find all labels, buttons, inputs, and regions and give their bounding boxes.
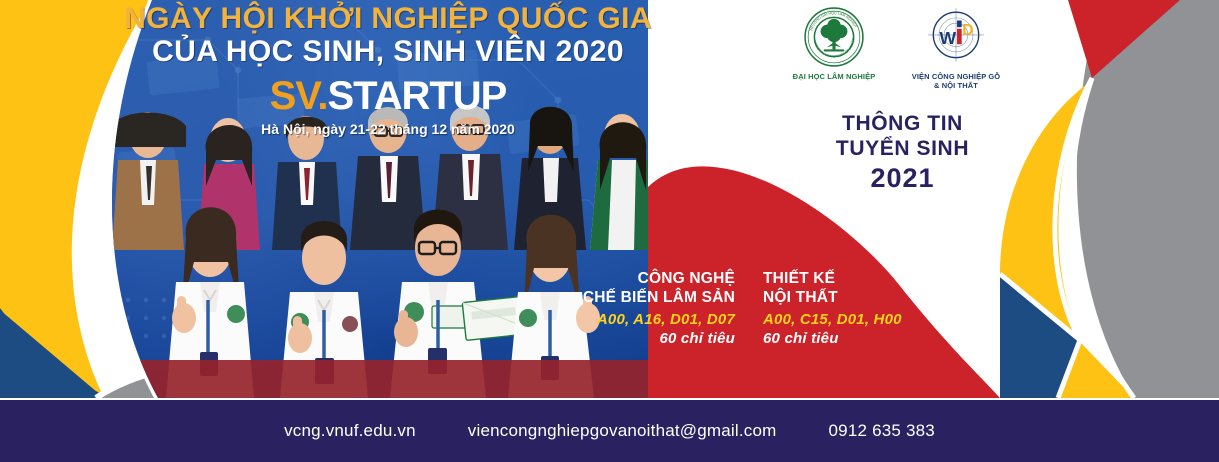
contact-email[interactable]: viencongnghiepgovanoithat@gmail.com — [468, 421, 777, 441]
major-name-line1: CÔNG NGHỆ — [560, 270, 735, 289]
major-name-line1: THIẾT KẾ — [763, 270, 943, 289]
info-title-line1: THÔNG TIN — [795, 112, 1010, 137]
major-name: THIẾT KẾ NỘI THẤT — [763, 270, 943, 308]
major-name: CÔNG NGHỆ CHẾ BIẾN LÂM SẢN — [560, 270, 735, 308]
info-title-line2: TUYỂN SINH — [795, 137, 1010, 162]
institution-logos: TRƯỜNG ĐẠI HỌC LÂM NGHIỆP NATIONAL UNIVE… — [780, 6, 1010, 91]
logo-wid-caption-line1: VIỆN CÔNG NGHIỆP GỖ — [912, 72, 1000, 81]
major-quota: 60 chỉ tiêu — [763, 330, 943, 347]
logo-vnuf: TRƯỜNG ĐẠI HỌC LÂM NGHIỆP NATIONAL UNIVE… — [782, 6, 886, 81]
major-name-line2: CHẾ BIẾN LÂM SẢN — [560, 289, 735, 308]
contact-phone[interactable]: 0912 635 383 — [829, 421, 935, 441]
major-quota: 60 chỉ tiêu — [560, 330, 735, 347]
svg-text:W: W — [939, 28, 956, 48]
major-subject-codes: A00, A16, D01, D07 — [560, 311, 735, 328]
info-title-year: 2021 — [795, 163, 1010, 195]
tree-seal-icon: TRƯỜNG ĐẠI HỌC LÂM NGHIỆP NATIONAL UNIVE… — [803, 6, 865, 68]
major-item: CÔNG NGHỆ CHẾ BIẾN LÂM SẢN A00, A16, D01… — [560, 270, 735, 347]
major-subject-codes: A00, C15, D01, H00 — [763, 311, 943, 328]
logo-wid-caption: VIỆN CÔNG NGHIỆP GỖ & NỘI THẤT — [912, 72, 1000, 91]
wid-target-icon: W D — [924, 6, 988, 68]
major-item: THIẾT KẾ NỘI THẤT A00, C15, D01, H00 60 … — [763, 270, 943, 347]
logo-vnuf-caption: ĐẠI HỌC LÂM NGHIỆP — [793, 72, 876, 81]
logo-wid-caption-line2: & NỘI THẤT — [912, 81, 1000, 90]
admissions-info-title: THÔNG TIN TUYỂN SINH 2021 — [795, 112, 1010, 194]
contact-footer: vcng.vnuf.edu.vn viencongnghiepgovanoith… — [0, 400, 1219, 462]
admissions-banner: NGÀY HỘI KHỞI NGHIỆP QUỐC GIA CỦA HỌC SI… — [0, 0, 1219, 462]
svg-text:D: D — [962, 22, 973, 39]
contact-website[interactable]: vcng.vnuf.edu.vn — [284, 421, 416, 441]
major-name-line2: NỘI THẤT — [763, 289, 943, 308]
logo-wid: W D VIỆN CÔNG NGHIỆP GỖ & NỘI THẤT — [904, 6, 1008, 91]
majors-list: CÔNG NGHỆ CHẾ BIẾN LÂM SẢN A00, A16, D01… — [560, 270, 960, 347]
